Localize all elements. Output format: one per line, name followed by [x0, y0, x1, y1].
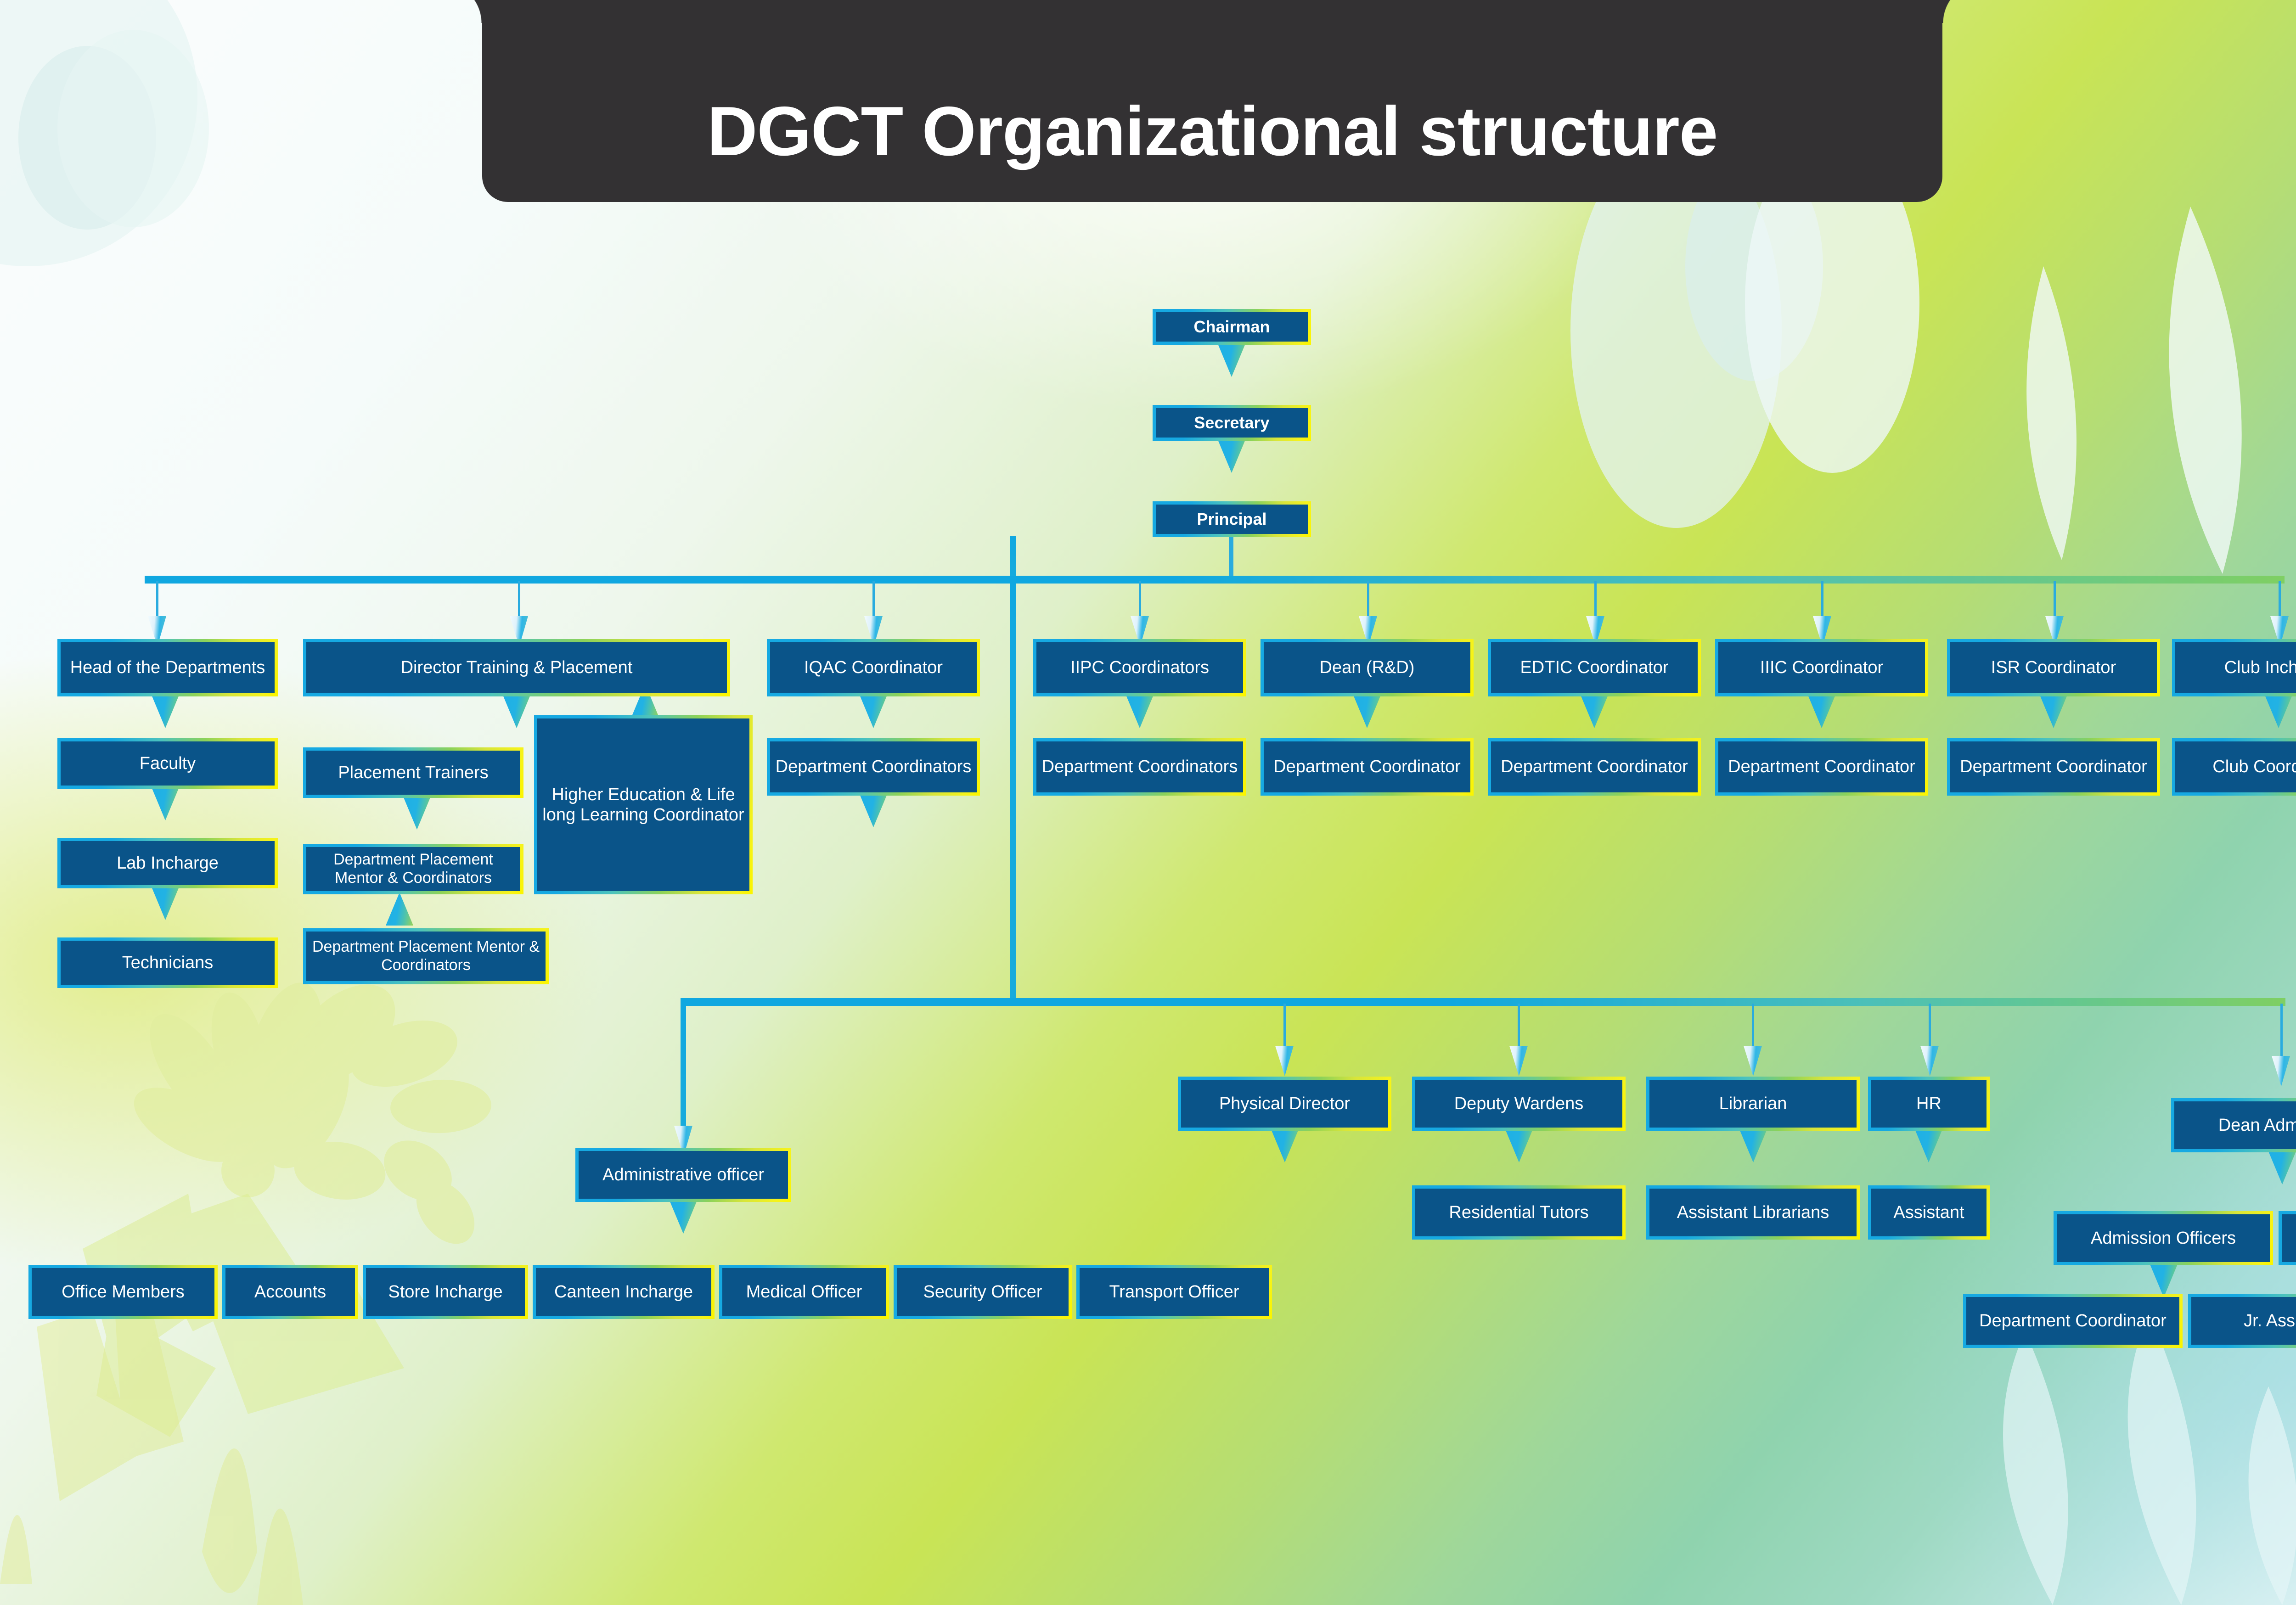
drop-club	[2279, 581, 2281, 622]
node-iipc-dept-coordinators[interactable]: Department Coordinators	[1033, 738, 1246, 796]
node-placement-trainers[interactable]: Placement Trainers	[303, 747, 523, 798]
node-hr[interactable]: HR	[1868, 1077, 1990, 1131]
drop-isr	[2054, 581, 2056, 622]
node-physical-director[interactable]: Physical Director	[1178, 1077, 1391, 1131]
node-dean-rd[interactable]: Dean (R&D)	[1261, 639, 1474, 696]
node-head-of-departments[interactable]: Head of the Departments	[57, 639, 278, 696]
drop-iqac	[872, 581, 875, 622]
drop-iiic	[1821, 581, 1823, 622]
drop-librarian	[1752, 1004, 1754, 1052]
drop-deputy-wardens	[1518, 1004, 1520, 1052]
node-iqac-dept-coordinators[interactable]: Department Coordinators	[767, 738, 980, 796]
node-pro[interactable]: PRO	[2279, 1211, 2296, 1265]
drop-edtic	[1594, 581, 1597, 622]
node-edtic-dept-coordinator[interactable]: Department Coordinator	[1488, 738, 1701, 796]
node-deputy-wardens[interactable]: Deputy Wardens	[1412, 1077, 1626, 1131]
drop-iipc	[1139, 581, 1141, 622]
node-admin-child-6[interactable]: Transport Officer	[1076, 1265, 1272, 1319]
node-iiic-dept-coordinator[interactable]: Department Coordinator	[1715, 738, 1928, 796]
node-director-training-placement[interactable]: Director Training & Placement	[303, 639, 730, 696]
banner-notch-left	[441, 0, 482, 23]
node-administrative-officer[interactable]: Administrative officer	[575, 1148, 791, 1202]
node-club-incharge[interactable]: Club Incharge	[2172, 639, 2296, 696]
node-club-coordinator[interactable]: Club Coordinator	[2172, 738, 2296, 796]
node-iqac-coordinator[interactable]: IQAC Coordinator	[767, 639, 980, 696]
title-banner: DGCT Organizational structure	[482, 0, 1942, 202]
node-dept-placement-mentors-1[interactable]: Department Placement Mentor & Coordinato…	[303, 844, 523, 894]
bus-level2	[681, 998, 2285, 1006]
node-admission-officers[interactable]: Admission Officers	[2054, 1211, 2273, 1265]
node-admin-child-2[interactable]: Store Incharge	[363, 1265, 528, 1319]
drop-physical-director	[1283, 1004, 1286, 1052]
drop-dean-rd	[1367, 581, 1369, 622]
banner-notch-right	[1942, 0, 1984, 23]
node-edtic-coordinator[interactable]: EDTIC Coordinator	[1488, 639, 1701, 696]
page-title: DGCT Organizational structure	[707, 91, 1718, 172]
node-higher-education-coordinator[interactable]: Higher Education & Life long Learning Co…	[534, 715, 753, 894]
node-admin-child-4[interactable]: Medical Officer	[719, 1265, 889, 1319]
node-isr-dept-coordinator[interactable]: Department Coordinator	[1947, 738, 2160, 796]
drop-hr	[1929, 1004, 1931, 1052]
node-assistant-librarians[interactable]: Assistant Librarians	[1646, 1185, 1860, 1240]
trunk-to-bus2	[1010, 576, 1016, 998]
node-lab-incharge[interactable]: Lab Incharge	[57, 838, 278, 888]
drop-dtp	[518, 581, 520, 622]
node-residential-tutors[interactable]: Residential Tutors	[1412, 1185, 1626, 1240]
node-iiic-coordinator[interactable]: IIIC Coordinator	[1715, 639, 1928, 696]
node-librarian[interactable]: Librarian	[1646, 1077, 1860, 1131]
node-admin-child-5[interactable]: Security Officer	[894, 1265, 1072, 1319]
node-admin-child-0[interactable]: Office Members	[28, 1265, 218, 1319]
node-jr-assistant[interactable]: Jr. Assistant	[2188, 1294, 2296, 1348]
node-dept-placement-mentors-2[interactable]: Department Placement Mentor & Coordinato…	[303, 928, 549, 984]
node-hr-assistant[interactable]: Assistant	[1868, 1185, 1990, 1240]
leg-admin-officer	[681, 998, 686, 1132]
node-admin-child-1[interactable]: Accounts	[222, 1265, 358, 1319]
node-technicians[interactable]: Technicians	[57, 937, 278, 988]
node-admin-child-3[interactable]: Canteen Incharge	[533, 1265, 715, 1319]
drop-hod	[156, 581, 158, 622]
node-principal[interactable]: Principal	[1153, 501, 1311, 537]
node-chairman[interactable]: Chairman	[1153, 309, 1311, 345]
node-dean-rd-dept-coordinator[interactable]: Department Coordinator	[1261, 738, 1474, 796]
node-secretary[interactable]: Secretary	[1153, 405, 1311, 441]
node-faculty[interactable]: Faculty	[57, 738, 278, 789]
background-glow	[0, 0, 2296, 1605]
node-admission-dept-coordinator[interactable]: Department Coordinator	[1963, 1294, 2183, 1348]
node-dean-admission[interactable]: Dean Admission	[2171, 1098, 2296, 1152]
node-iipc-coordinators[interactable]: IIPC Coordinators	[1033, 639, 1246, 696]
bus-level1	[145, 576, 2285, 584]
node-isr-coordinator[interactable]: ISR Coordinator	[1947, 639, 2160, 696]
drop-dean-admission	[2280, 1004, 2283, 1063]
